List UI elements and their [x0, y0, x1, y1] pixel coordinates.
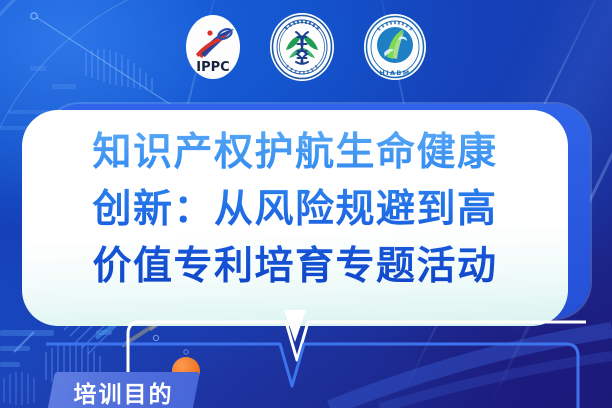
tail-outline-blue	[262, 344, 322, 386]
tail-outline-white	[268, 322, 326, 360]
poster-root: IPPC	[0, 0, 612, 408]
echo-frame-corner-right	[566, 344, 578, 408]
section-tag-label: 培训目的	[51, 372, 196, 408]
bubble-tail-outlines	[0, 0, 612, 408]
